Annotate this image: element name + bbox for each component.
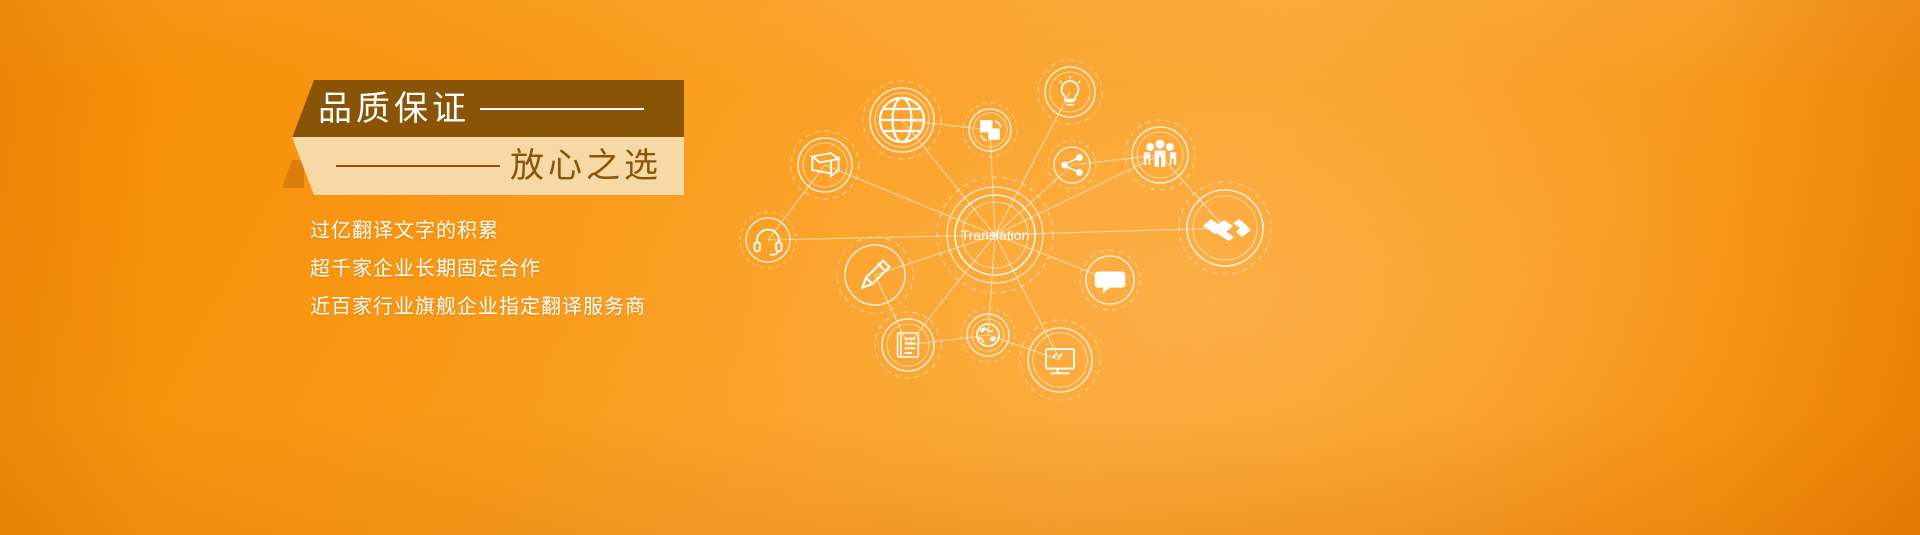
ribbon-top-row: 品质保证 xyxy=(292,80,684,138)
book-icon xyxy=(812,153,838,176)
ribbon-bottom-row: 放心之选 xyxy=(292,137,684,195)
chat-icon xyxy=(1095,272,1126,294)
headset-icon xyxy=(754,230,781,255)
handshake-icon xyxy=(1203,219,1251,241)
ribbon-rule-bottom xyxy=(336,165,500,167)
translate-icon xyxy=(980,120,1001,141)
ribbon-title-top: 品质保证 xyxy=(318,92,470,126)
network-node-people xyxy=(1125,120,1195,190)
translation-network-graphic: Translation xyxy=(720,30,1320,430)
monitor-icon xyxy=(1046,349,1074,373)
globe-icon xyxy=(880,98,924,142)
ribbon-badge: 品质保证 放心之选 xyxy=(292,80,684,195)
lightbulb-icon xyxy=(1060,76,1080,105)
pencil-icon xyxy=(862,261,889,288)
ribbon-title-bottom: 放心之选 xyxy=(510,149,662,183)
network-node-chat xyxy=(1080,250,1140,310)
people-icon xyxy=(1144,140,1176,167)
network-center-label: Translation xyxy=(961,227,1030,243)
network-node-handshake xyxy=(1179,182,1271,274)
network-center-node: Translation xyxy=(937,177,1053,293)
network-node-translate xyxy=(963,103,1017,157)
ribbon-rule-top xyxy=(480,108,644,110)
network-node-globe xyxy=(863,81,941,159)
banner: 品质保证 放心之选 过亿翻译文字的积累 超千家企业长期固定合作 近百家行业旗舰企… xyxy=(0,0,1920,535)
